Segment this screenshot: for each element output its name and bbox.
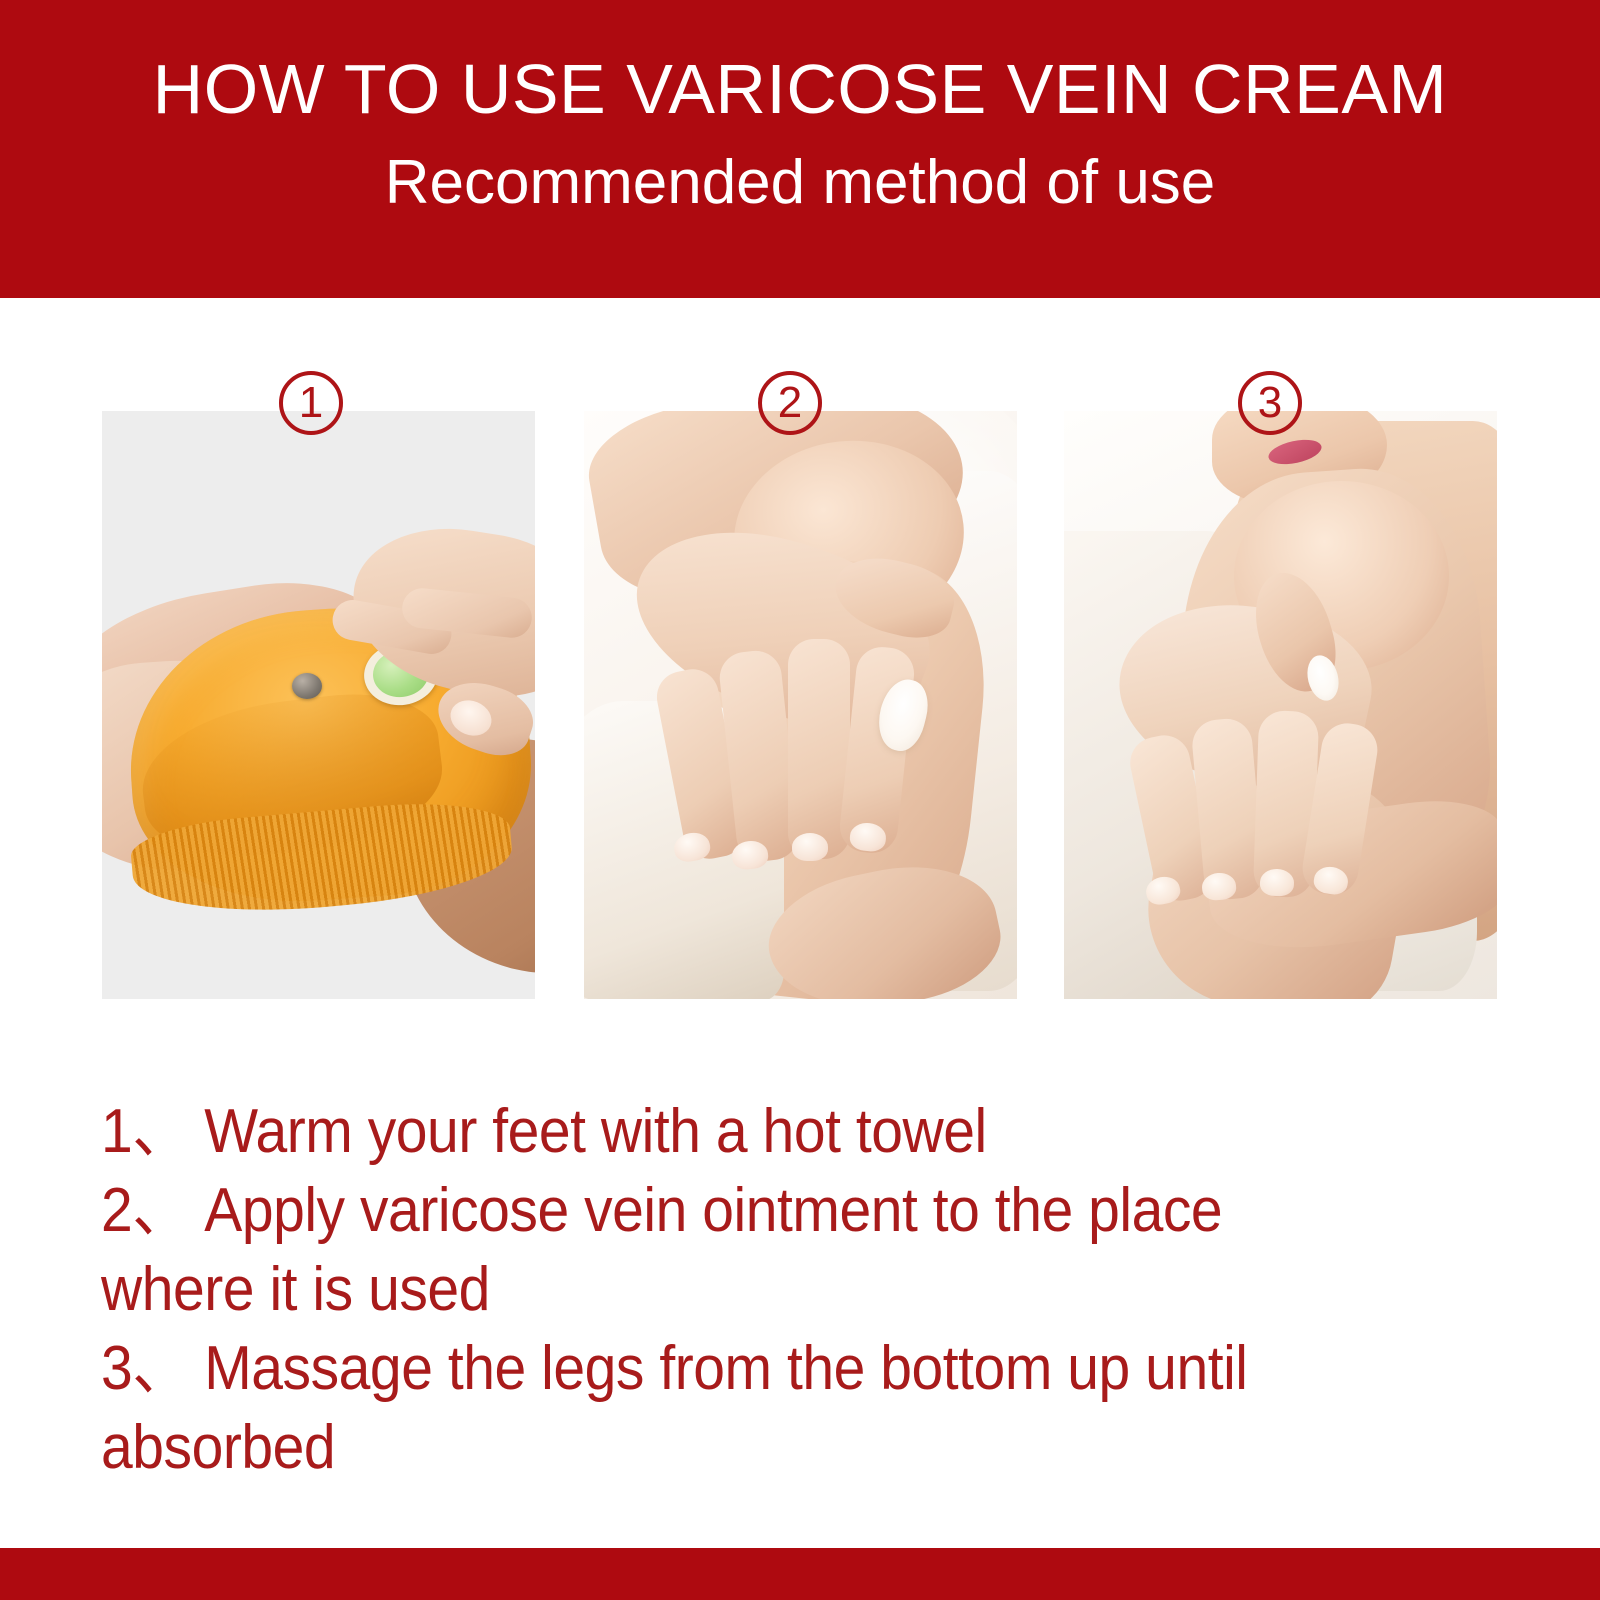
step-badge-2: 2 (758, 371, 822, 435)
step-badge-3: 3 (1238, 371, 1302, 435)
instruction-line-5: absorbed (101, 1408, 1389, 1487)
instruction-line-1: 1、 Warm your feet with a hot towel (101, 1092, 1389, 1171)
instruction-line-4: 3、 Massage the legs from the bottom up u… (101, 1329, 1389, 1408)
step-image-3 (1064, 411, 1497, 999)
step-1-illustration (102, 411, 535, 999)
page-subtitle: Recommended method of use (385, 152, 1216, 214)
step-image-row (0, 411, 1600, 999)
step-image-1 (102, 411, 535, 999)
fingers-group (1142, 701, 1382, 901)
footer-bar (0, 1548, 1600, 1600)
step-image-2 (584, 411, 1017, 999)
header-banner: HOW TO USE VARICOSE VEIN CREAM Recommend… (0, 0, 1600, 298)
fingernail-shape (1260, 868, 1295, 896)
step-badge-1: 1 (279, 371, 343, 435)
instruction-line-3: where it is used (101, 1250, 1389, 1329)
fingernail-shape (792, 833, 828, 861)
instruction-line-2: 2、 Apply varicose vein ointment to the p… (101, 1171, 1389, 1250)
instructions-block: 1、 Warm your feet with a hot towel 2、 Ap… (101, 1092, 1501, 1487)
step-2-illustration (584, 411, 1017, 999)
pad-small-button-icon (292, 673, 322, 699)
step-3-illustration (1064, 411, 1497, 999)
page-title: HOW TO USE VARICOSE VEIN CREAM (153, 54, 1448, 124)
fingers-group (670, 633, 940, 893)
